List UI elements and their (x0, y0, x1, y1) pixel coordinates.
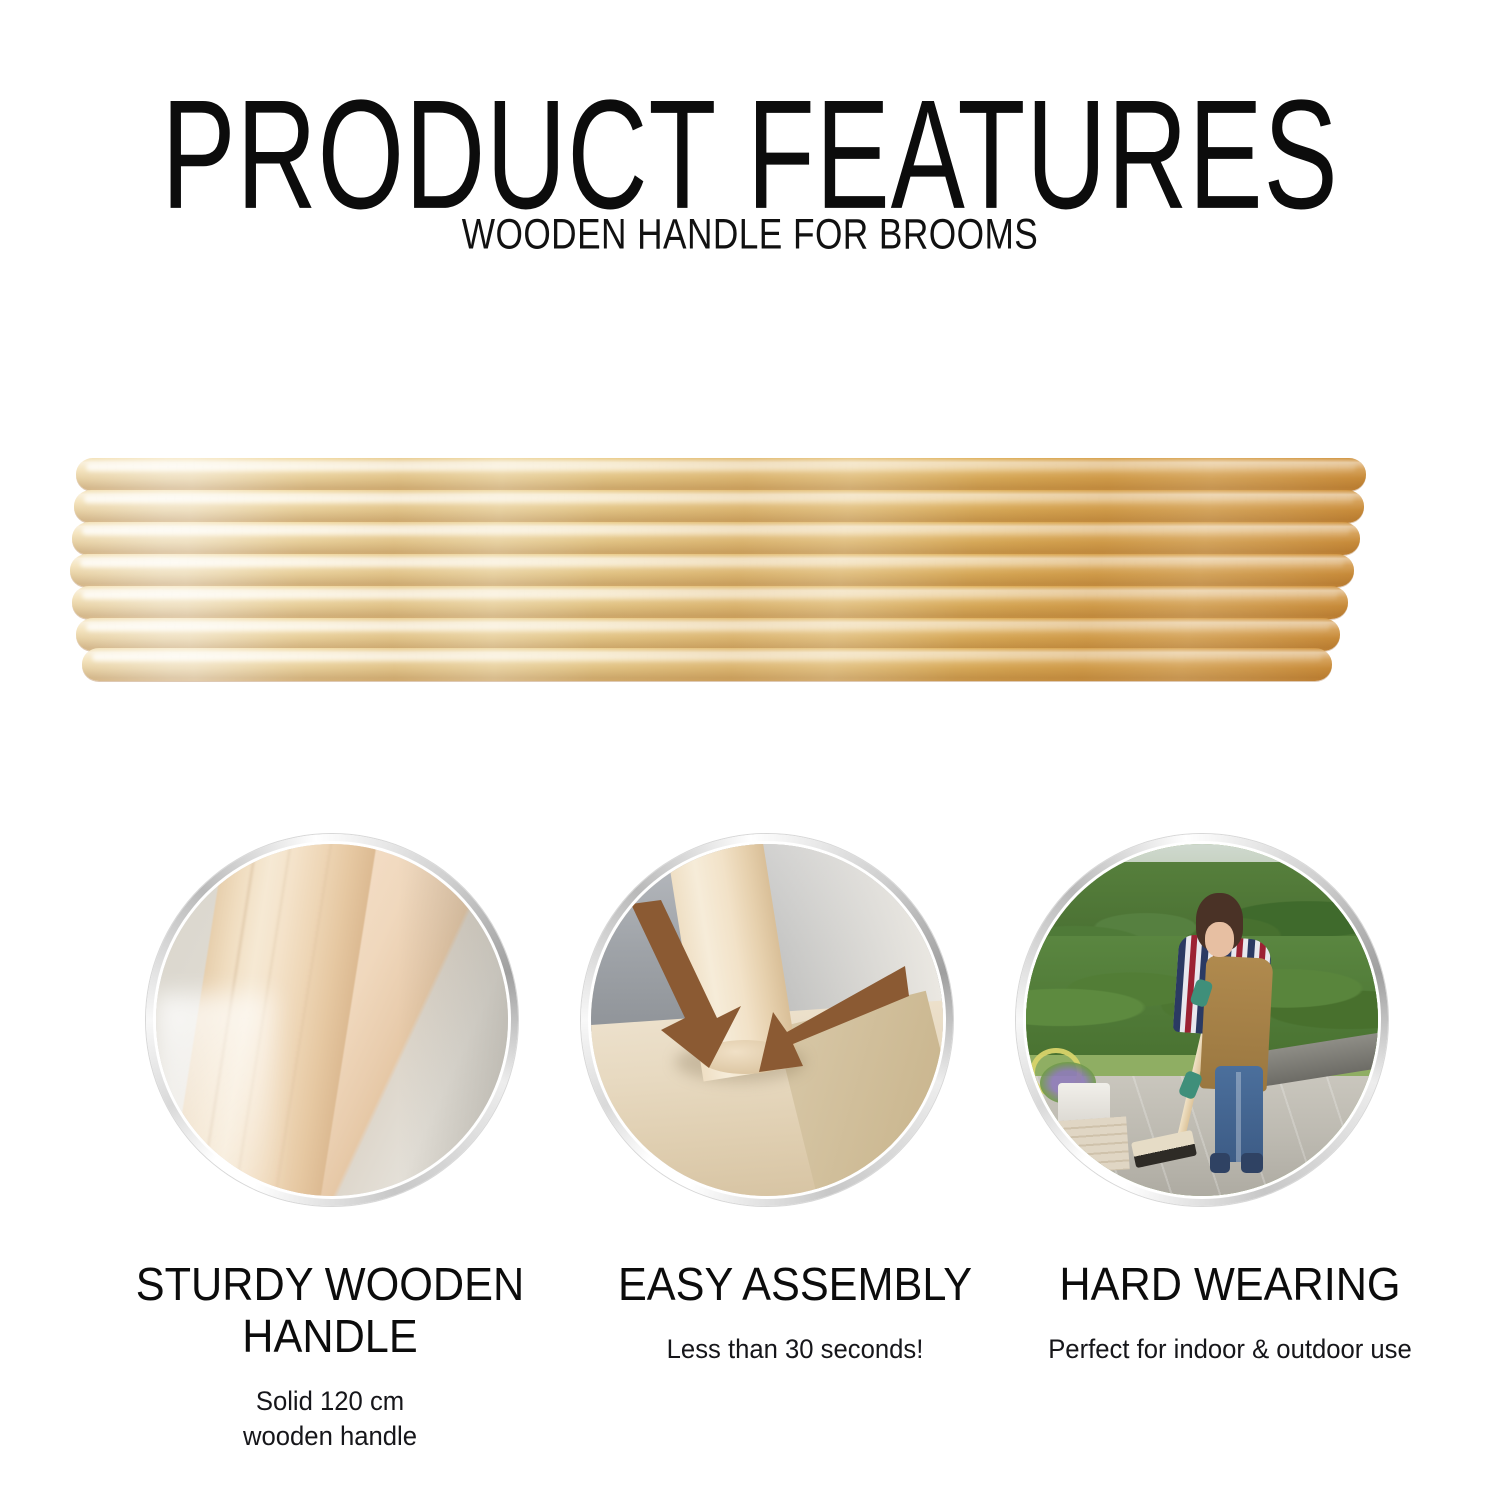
page-subtitle: WOODEN HANDLE FOR BROOMS (105, 213, 1395, 256)
feature-circles-row (0, 820, 1500, 1260)
wooden-handle-rod (76, 458, 1366, 491)
header: PRODUCT FEATURES WOODEN HANDLE FOR BROOM… (0, 0, 1500, 290)
circle-frame (1016, 834, 1388, 1206)
feature-title: EASY ASSEMBLY (574, 1258, 1016, 1310)
caption-easy-assembly: EASY ASSEMBLY Less than 30 seconds! (560, 1258, 1030, 1367)
wooden-handle-rod (82, 648, 1332, 681)
circle-frame (581, 834, 953, 1206)
handle-inserted-into-broom-head-photo (591, 844, 943, 1196)
feature-title: STURDY WOODEN HANDLE (76, 1258, 584, 1362)
circle-inner-ring (1023, 841, 1381, 1199)
product-hero-image (0, 430, 1500, 680)
caption-sturdy-wooden-handle: STURDY WOODEN HANDLE Solid 120 cm wooden… (60, 1258, 600, 1454)
wooden-handle-rod (74, 490, 1364, 523)
wooden-handle-rod (76, 618, 1340, 651)
feature-item-sturdy-wooden-handle (120, 820, 540, 1260)
circle-inner-ring (588, 841, 946, 1199)
wooden-handle-rod (72, 586, 1348, 619)
feature-subtitle: Solid 120 cm wooden handle (74, 1384, 587, 1454)
feature-title: HARD WEARING (1009, 1258, 1451, 1310)
wooden-handle-rod (72, 522, 1360, 555)
caption-hard-wearing: HARD WEARING Perfect for indoor & outdoo… (995, 1258, 1465, 1367)
wooden-pole-closeup-photo (156, 844, 508, 1196)
feature-item-easy-assembly (555, 820, 975, 1260)
wooden-handle-rod (70, 554, 1354, 587)
feature-subtitle: Less than 30 seconds! (572, 1332, 1019, 1367)
feature-item-hard-wearing (990, 820, 1410, 1260)
arrow-left-icon (625, 900, 745, 1070)
woman-sweeping-patio-photo (1026, 844, 1378, 1196)
feature-subtitle: Perfect for indoor & outdoor use (1007, 1332, 1454, 1367)
circle-inner-ring (153, 841, 511, 1199)
arrow-right-icon (759, 960, 909, 1080)
circle-frame (146, 834, 518, 1206)
